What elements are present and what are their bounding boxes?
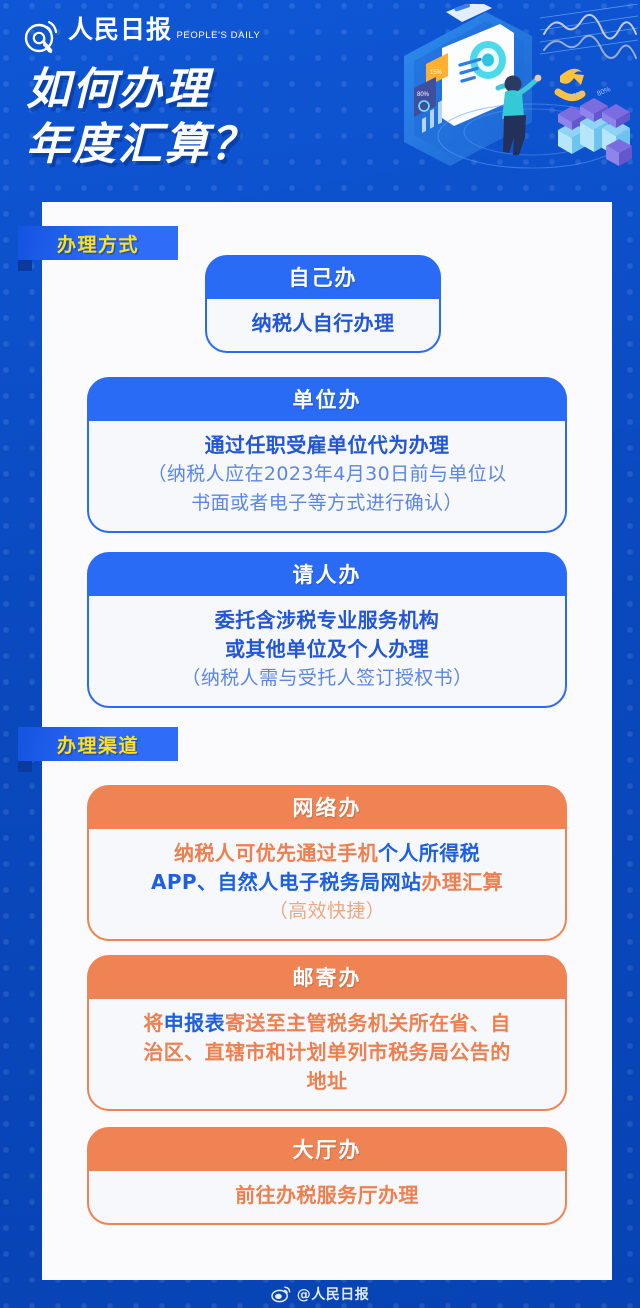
online-line2-plain: 办理汇算 [421,870,503,894]
logo-wordmark: 人民日报 PEOPLE'S DAILY [68,16,260,44]
card-self-service-body: 纳税人自行办理 [205,298,441,353]
page-title-line-1: 如何办理 [26,62,256,117]
online-line1-plain: 纳税人可优先通过手机 [174,841,378,865]
infographic-page: 人民日报 PEOPLE'S DAILY 如何办理 年度汇算？ [0,0,640,1308]
card-agent-service-text-2: 或其他单位及个人办理 [101,635,553,664]
mail-line1-plain-a: 将 [143,1011,163,1035]
card-self-service[interactable]: 自己办 纳税人自行办理 [205,255,441,353]
card-agent-service-note: （纳税人需与受托人签订授权书） [101,664,553,693]
card-online-channel-body: 纳税人可优先通过手机个人所得税 APP、自然人电子税务局网站办理汇算 （高效快捷… [87,828,567,941]
card-mail-channel-text-1: 将申报表寄送至主管税务机关所在省、自 [101,1009,553,1038]
card-hall-channel-body: 前往办税服务厅办理 [87,1170,567,1225]
card-mail-channel-text-3: 地址 [101,1067,553,1096]
card-self-service-title: 自己办 [289,262,358,292]
card-self-service-text: 纳税人自行办理 [219,309,427,338]
card-online-channel-title: 网络办 [293,792,362,822]
footer-handle: @人民日报 [297,1284,370,1304]
card-self-service-header: 自己办 [205,255,441,299]
card-online-channel-note: （高效快捷） [101,897,553,926]
card-mail-channel-text-2: 治区、直辖市和计划单列市税务局公告的 [101,1038,553,1067]
section-tag-method: 办理方式 [18,226,178,260]
online-line2-highlight: APP、自然人电子税务局网站 [151,870,421,894]
logo-name-en: PEOPLE'S DAILY [176,30,260,41]
online-line1-highlight: 个人所得税 [378,841,480,865]
mail-line1-plain-b: 寄送至主管税务机关所在省、自 [225,1011,511,1035]
card-employer-service-body: 通过任职受雇单位代为办理 （纳税人应在2023年4月30日前与单位以 书面或者电… [87,420,567,533]
card-online-channel[interactable]: 网络办 纳税人可优先通过手机个人所得税 APP、自然人电子税务局网站办理汇算 （… [87,785,567,941]
card-hall-channel-text: 前往办税服务厅办理 [101,1181,553,1210]
card-agent-service-text-1: 委托含涉税专业服务机构 [101,606,553,635]
card-hall-channel[interactable]: 大厅办 前往办税服务厅办理 [87,1127,567,1225]
card-online-channel-text-2: APP、自然人电子税务局网站办理汇算 [101,868,553,897]
weibo-icon [271,1285,291,1303]
header: 人民日报 PEOPLE'S DAILY 如何办理 年度汇算？ [0,0,640,202]
section-tag-channel-label: 办理渠道 [57,731,139,758]
card-mail-channel-body: 将申报表寄送至主管税务机关所在省、自 治区、直辖市和计划单列市税务局公告的 地址 [87,998,567,1111]
svg-text:80%: 80% [417,92,430,98]
card-hall-channel-title: 大厅办 [293,1134,362,1164]
card-employer-service[interactable]: 单位办 通过任职受雇单位代为办理 （纳税人应在2023年4月30日前与单位以 书… [87,377,567,533]
peoples-daily-logo: 人民日报 PEOPLE'S DAILY [22,16,260,58]
card-employer-service-title: 单位办 [293,384,362,414]
data-dashboard-person-illustration: 15% 80% [390,4,638,180]
logo-name-cn: 人民日报 [68,15,172,44]
footer: @人民日报 [0,1280,640,1308]
card-mail-channel[interactable]: 邮寄办 将申报表寄送至主管税务机关所在省、自 治区、直辖市和计划单列市税务局公告… [87,955,567,1111]
card-employer-service-header: 单位办 [87,377,567,421]
card-hall-channel-header: 大厅办 [87,1127,567,1171]
card-online-channel-text-1: 纳税人可优先通过手机个人所得税 [101,839,553,868]
page-title-line-2: 年度汇算？ [26,117,256,172]
card-mail-channel-header: 邮寄办 [87,955,567,999]
card-online-channel-header: 网络办 [87,785,567,829]
card-agent-service-body: 委托含涉税专业服务机构 或其他单位及个人办理 （纳税人需与受托人签订授权书） [87,595,567,708]
svg-text:80%: 80% [596,86,612,98]
page-title: 如何办理 年度汇算？ [26,62,256,172]
card-employer-service-note-2: 书面或者电子等方式进行确认） [101,489,553,518]
card-agent-service-title: 请人办 [293,559,362,589]
section-tag-method-label: 办理方式 [57,230,139,257]
card-employer-service-note-1: （纳税人应在2023年4月30日前与单位以 [101,460,553,489]
card-employer-service-text: 通过任职受雇单位代为办理 [101,431,553,460]
mail-line1-highlight: 申报表 [164,1011,225,1035]
section-tag-channel: 办理渠道 [18,727,178,761]
card-agent-service[interactable]: 请人办 委托含涉税专业服务机构 或其他单位及个人办理 （纳税人需与受托人签订授权… [87,552,567,708]
at-sign-pen-icon [22,16,64,58]
content-panel: 办理方式 自己办 纳税人自行办理 单位办 通过任职受雇单位代为办理 （纳税人应在… [42,202,612,1280]
card-agent-service-header: 请人办 [87,552,567,596]
svg-text:15%: 15% [430,70,443,76]
card-mail-channel-title: 邮寄办 [293,962,362,992]
